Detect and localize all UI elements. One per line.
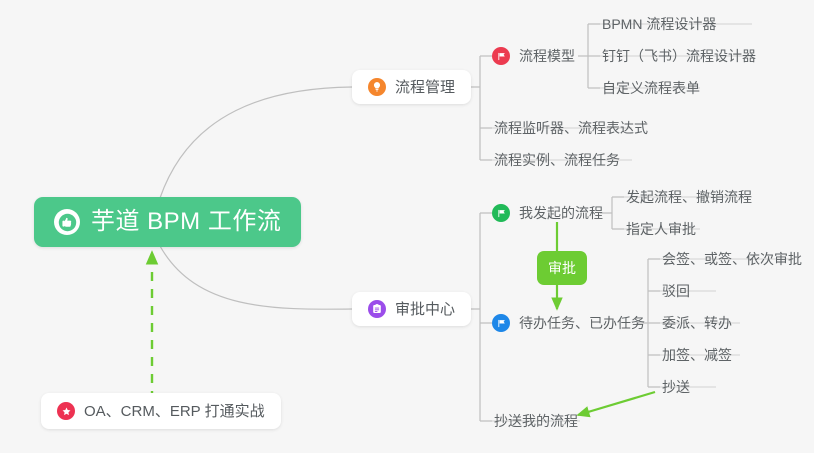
leaf-listener-expression[interactable]: 流程监听器、流程表达式 [494, 115, 648, 141]
arrow-cc-to-my-cc [578, 392, 655, 415]
branch-node-process-management[interactable]: 流程管理 [352, 70, 471, 104]
leaf-label: 指定人审批 [626, 222, 696, 236]
leaf-label: 会签、或签、依次审批 [662, 252, 802, 266]
branch-label: 审批中心 [395, 302, 455, 317]
star-icon [57, 402, 75, 420]
leaf-delegate-transfer[interactable]: 委派、转办 [662, 310, 732, 336]
leaf-instance-task[interactable]: 流程实例、流程任务 [494, 147, 620, 173]
leaf-label: 发起流程、撤销流程 [626, 190, 752, 204]
mindmap-canvas: 芋道 BPM 工作流 流程管理 流程模型 BPMN 流程设计器 钉钉（飞书）流程… [0, 0, 814, 453]
leaf-custom-form[interactable]: 自定义流程表单 [602, 75, 700, 101]
leaf-bpmn-designer[interactable]: BPMN 流程设计器 [602, 11, 716, 37]
wire-root-to-approval-center [160, 246, 352, 309]
clipboard-icon [368, 300, 386, 318]
node-label: 流程模型 [519, 49, 575, 63]
node-my-initiated[interactable]: 我发起的流程 [492, 200, 603, 226]
node-label: 我发起的流程 [519, 206, 603, 220]
branch-node-approval-center[interactable]: 审批中心 [352, 292, 471, 326]
leaf-cc-to-me[interactable]: 抄送我的流程 [494, 408, 578, 434]
thumbs-up-icon [54, 209, 80, 235]
root-node[interactable]: 芋道 BPM 工作流 [34, 197, 301, 247]
leaf-reject[interactable]: 驳回 [662, 278, 690, 304]
flag-icon [492, 204, 510, 222]
leaf-dingtalk-designer[interactable]: 钉钉（飞书）流程设计器 [602, 43, 756, 69]
leaf-label: 流程实例、流程任务 [494, 153, 620, 167]
leaf-label: 加签、减签 [662, 348, 732, 362]
callout-approval[interactable]: 审批 [537, 251, 587, 285]
branch-label: 流程管理 [395, 80, 455, 95]
node-todo-done-tasks[interactable]: 待办任务、已办任务 [492, 310, 645, 336]
flag-icon [492, 47, 510, 65]
leaf-label: BPMN 流程设计器 [602, 17, 716, 31]
leaf-label: 抄送我的流程 [494, 414, 578, 428]
root-label: 芋道 BPM 工作流 [91, 210, 281, 234]
leaf-label: 自定义流程表单 [602, 81, 700, 95]
leaf-label: 流程监听器、流程表达式 [494, 121, 648, 135]
flag-icon [492, 314, 510, 332]
footer-note-label: OA、CRM、ERP 打通实战 [84, 404, 265, 419]
leaf-carbon-copy[interactable]: 抄送 [662, 374, 690, 400]
leaf-label: 抄送 [662, 380, 690, 394]
leaf-start-cancel-process[interactable]: 发起流程、撤销流程 [626, 184, 752, 210]
leaf-label: 钉钉（飞书）流程设计器 [602, 49, 756, 63]
leaf-countersign[interactable]: 会签、或签、依次审批 [662, 246, 802, 272]
leaf-designated-approver[interactable]: 指定人审批 [626, 216, 696, 242]
leaf-add-remove-sign[interactable]: 加签、减签 [662, 342, 732, 368]
footer-note-node[interactable]: OA、CRM、ERP 打通实战 [41, 393, 281, 429]
leaf-label: 委派、转办 [662, 316, 732, 330]
wire-root-to-process-management [160, 87, 352, 198]
node-process-model[interactable]: 流程模型 [492, 43, 575, 69]
callout-label: 审批 [548, 261, 576, 275]
lightbulb-icon [368, 78, 386, 96]
leaf-label: 驳回 [662, 284, 690, 298]
node-label: 待办任务、已办任务 [519, 316, 645, 330]
